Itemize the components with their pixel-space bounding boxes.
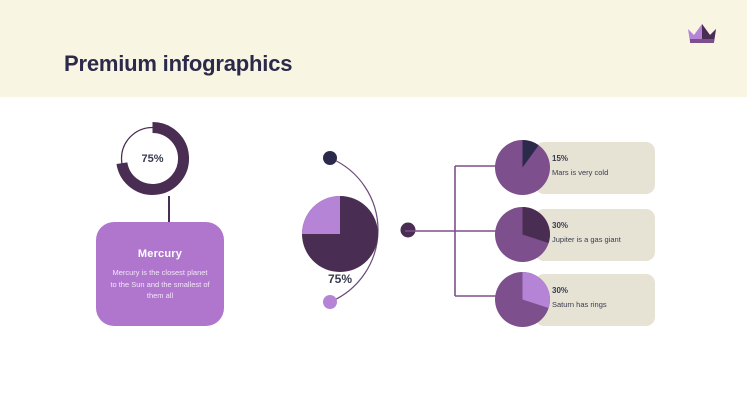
list-item[interactable]: 15% Mars is very cold — [495, 142, 655, 194]
row-percent: 15% — [552, 154, 608, 163]
list-item[interactable]: 30% Jupiter is a gas giant — [495, 209, 655, 261]
mercury-card-title: Mercury — [110, 248, 210, 260]
row-description: Saturn has rings — [552, 300, 607, 309]
crown-icon — [686, 20, 718, 48]
list-item[interactable]: 30% Saturn has rings — [495, 274, 655, 326]
arc-dot-bottom — [323, 295, 337, 309]
mercury-card-body: Mercury is the closest planet to the Sun… — [110, 267, 210, 302]
mars-pie-chart — [495, 140, 550, 195]
row-description: Mars is very cold — [552, 168, 608, 177]
jupiter-pie-chart — [495, 207, 550, 262]
center-pie-chart — [302, 196, 378, 272]
slide-canvas: Premium infographics 75% Mercury Mercury… — [0, 0, 747, 420]
donut-card-connector — [168, 196, 170, 224]
saturn-pie-chart — [495, 272, 550, 327]
row-percent: 30% — [552, 286, 607, 295]
arc-dot-top — [323, 151, 337, 165]
center-pie-value: 75% — [302, 272, 378, 286]
mercury-card[interactable]: Mercury Mercury is the closest planet to… — [96, 222, 224, 326]
row-text: 30% Saturn has rings — [552, 286, 607, 309]
row-text: 30% Jupiter is a gas giant — [552, 221, 621, 244]
page-title: Premium infographics — [64, 51, 292, 77]
row-description: Jupiter is a gas giant — [552, 235, 621, 244]
row-percent: 30% — [552, 221, 621, 230]
mercury-donut-value: 75% — [115, 121, 190, 196]
row-text: 15% Mars is very cold — [552, 154, 608, 177]
header-band — [0, 0, 747, 97]
